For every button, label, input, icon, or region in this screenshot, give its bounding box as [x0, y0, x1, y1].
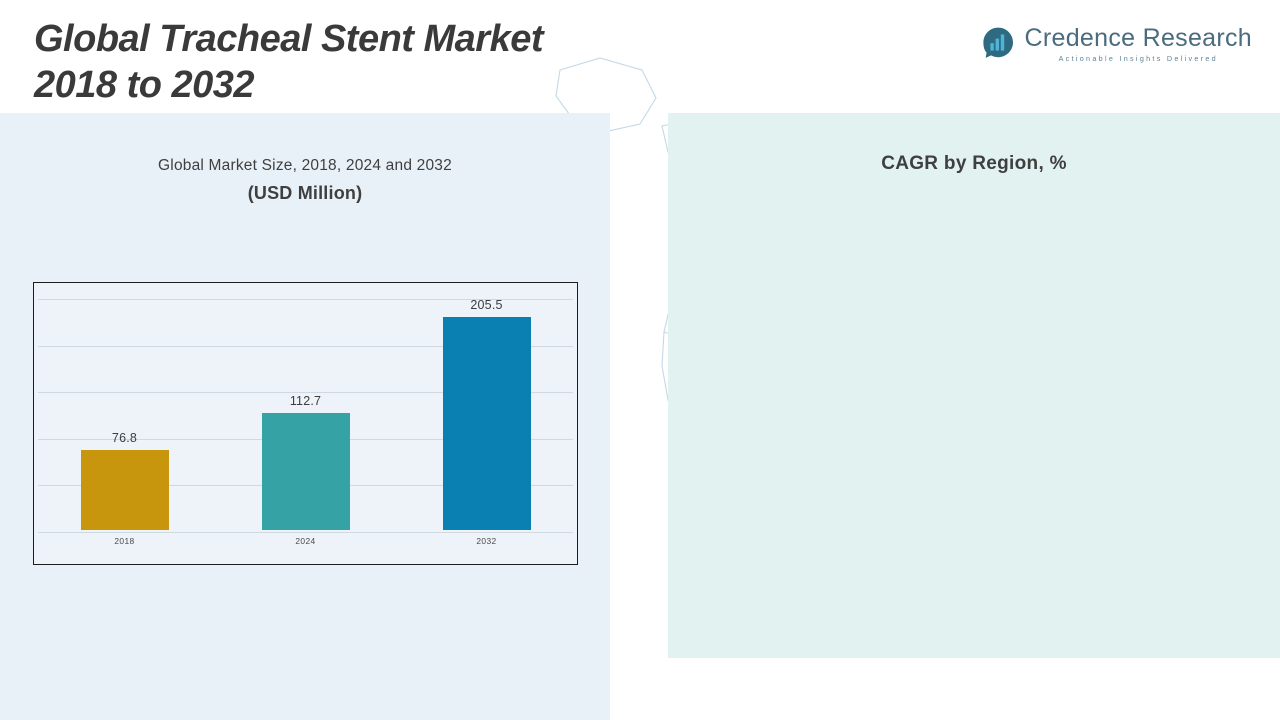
- speech-bubble-bar-chart-icon: [980, 26, 1016, 62]
- x-axis-tick-label: 2024: [215, 536, 396, 546]
- x-axis-labels: 201820242032: [34, 530, 577, 564]
- bar-value-label: 205.5: [470, 298, 502, 312]
- column-plot-area: 76.8112.7205.5: [34, 283, 577, 530]
- x-axis-tick-label: 2032: [396, 536, 577, 546]
- column-bar: [81, 450, 169, 530]
- left-chart-title: Global Market Size, 2018, 2024 and 2032: [0, 157, 610, 175]
- right-chart-title: CAGR by Region, %: [668, 153, 1280, 175]
- bar-value-label: 76.8: [112, 431, 137, 445]
- column-bar: [262, 413, 350, 530]
- x-axis-tick-label: 2018: [34, 536, 215, 546]
- page-title: Global Tracheal Stent Market 2018 to 203…: [34, 16, 734, 109]
- column-bar-group: 76.8: [34, 283, 215, 530]
- column-bar-group: 112.7: [215, 283, 396, 530]
- column-bar-group: 205.5: [396, 283, 577, 530]
- brand-logo: Credence Research Actionable Insights De…: [980, 26, 1252, 62]
- header: Global Tracheal Stent Market 2018 to 203…: [0, 0, 1280, 113]
- left-panel: Global Market Size, 2018, 2024 and 2032 …: [0, 113, 610, 720]
- logo-tagline: Actionable Insights Delivered: [1025, 55, 1252, 62]
- global-market-size-chart: 76.8112.7205.5 201820242032: [33, 282, 578, 565]
- column-bar: [443, 317, 531, 530]
- left-chart-subtitle: (USD Million): [0, 183, 610, 204]
- right-panel: CAGR by Region, % 5.3%5.8%6.7%9.1%7.4%8.…: [668, 113, 1280, 658]
- bar-value-label: 112.7: [290, 394, 321, 408]
- logo-name: Credence Research: [1025, 26, 1252, 51]
